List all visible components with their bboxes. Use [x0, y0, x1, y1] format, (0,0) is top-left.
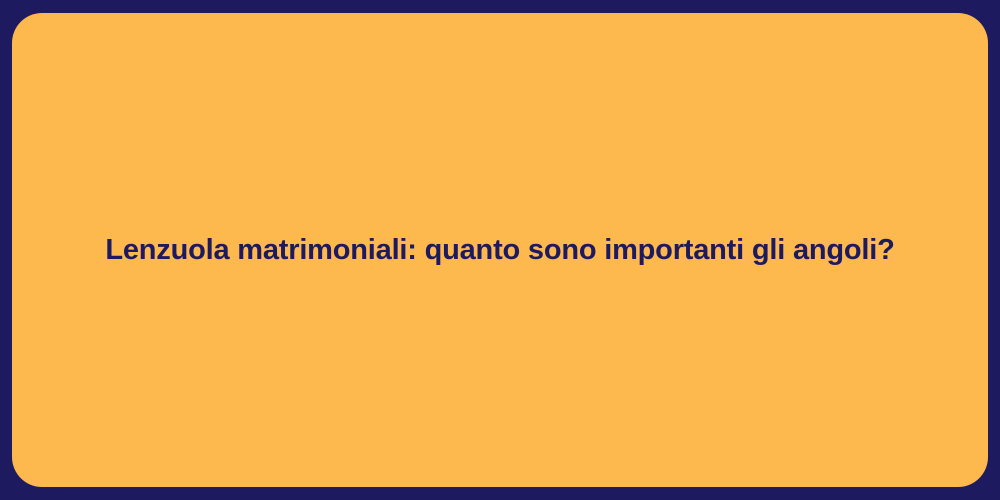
page-background: Lenzuola matrimoniali: quanto sono impor… — [0, 0, 1000, 500]
page-title: Lenzuola matrimoniali: quanto sono impor… — [105, 232, 894, 268]
headline-card: Lenzuola matrimoniali: quanto sono impor… — [12, 13, 988, 487]
